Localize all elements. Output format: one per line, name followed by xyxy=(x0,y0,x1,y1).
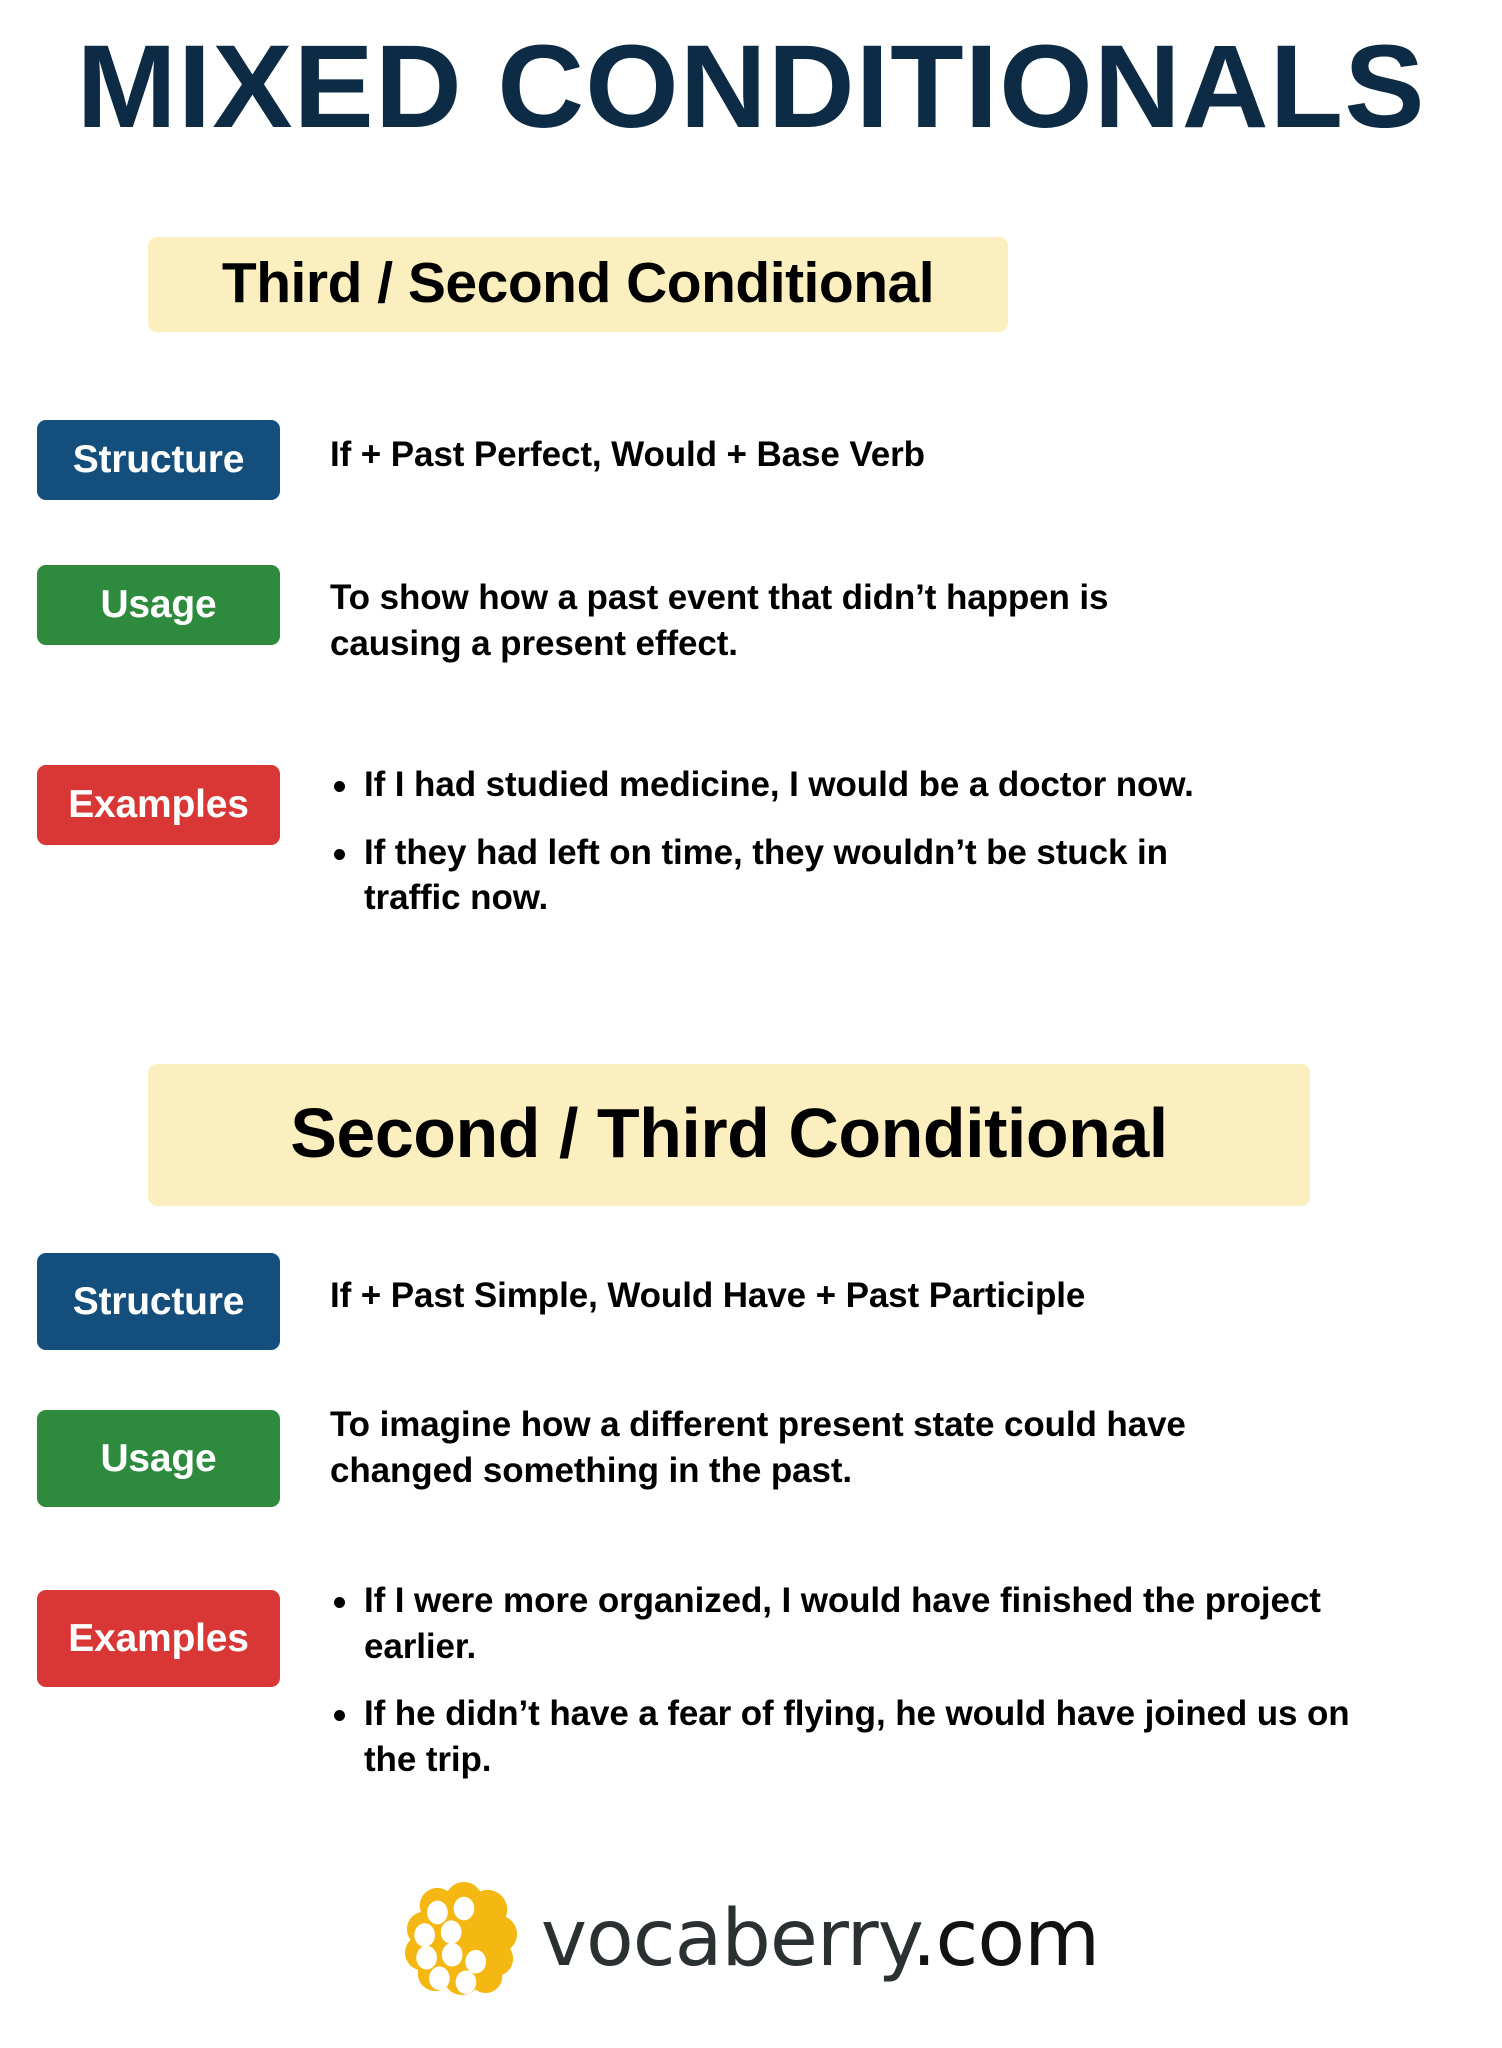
list-item: If he didn’t have a fear of flying, he w… xyxy=(330,1691,1350,1782)
usage-text-section2: To imagine how a different present state… xyxy=(330,1402,1330,1493)
infographic-page: MIXED CONDITIONALS Third / Second Condit… xyxy=(0,0,1502,2048)
structure-text-section1: If + Past Perfect, Would + Base Verb xyxy=(330,432,1430,478)
badge-label: Structure xyxy=(73,1280,245,1324)
badge-structure-section1: Structure xyxy=(37,420,280,500)
structure-text-section2: If + Past Simple, Would Have + Past Part… xyxy=(330,1273,1490,1319)
badge-label: Examples xyxy=(68,783,249,827)
brand-wordmark: vocaberry.com xyxy=(541,1900,1099,1978)
berry-cluster-icon xyxy=(403,1880,521,1998)
section-banner-label: Second / Third Conditional xyxy=(290,1093,1168,1173)
page-title: MIXED CONDITIONALS xyxy=(0,28,1502,146)
section-banner-third-second: Third / Second Conditional xyxy=(148,237,1008,332)
badge-label: Examples xyxy=(68,1617,249,1661)
badge-usage-section1: Usage xyxy=(37,565,280,645)
badge-structure-section2: Structure xyxy=(37,1253,280,1350)
footer-logo[interactable]: vocaberry.com xyxy=(0,1880,1502,1998)
examples-list-section1: If I had studied medicine, I would be a … xyxy=(330,762,1270,921)
section-banner-label: Third / Second Conditional xyxy=(222,250,934,316)
badge-label: Usage xyxy=(100,583,216,627)
badge-label: Usage xyxy=(100,1437,216,1481)
badge-label: Structure xyxy=(73,438,245,482)
badge-usage-section2: Usage xyxy=(37,1410,280,1507)
section-banner-second-third: Second / Third Conditional xyxy=(148,1064,1310,1206)
list-item: If I were more organized, I would have f… xyxy=(330,1578,1350,1669)
badge-examples-section2: Examples xyxy=(37,1590,280,1687)
list-item: If I had studied medicine, I would be a … xyxy=(330,762,1270,808)
examples-list-section2: If I were more organized, I would have f… xyxy=(330,1578,1350,1782)
list-item: If they had left on time, they wouldn’t … xyxy=(330,830,1270,921)
brand-suffix: .com xyxy=(912,1894,1099,1984)
brand-name: vocaberry xyxy=(541,1894,912,1984)
usage-text-section1: To show how a past event that didn’t hap… xyxy=(330,575,1210,666)
badge-examples-section1: Examples xyxy=(37,765,280,845)
